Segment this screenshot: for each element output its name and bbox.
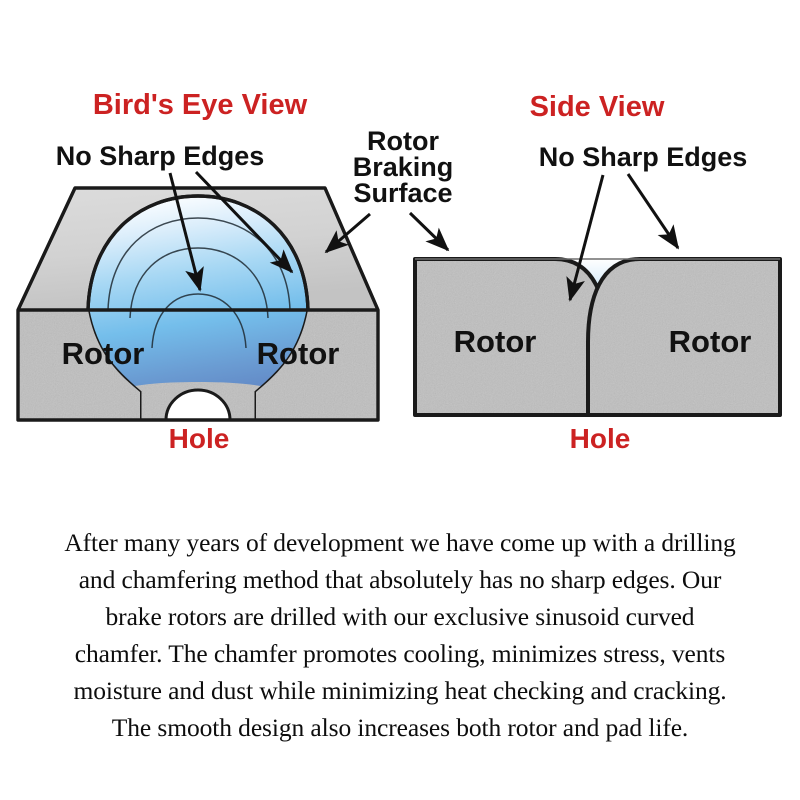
arrow-no-sharp-edges-right-b (628, 174, 678, 248)
caption-line-5: moisture and dust while minimizing heat … (12, 672, 788, 709)
rotor-braking-surface-line3: Surface (353, 178, 452, 208)
side-view-rotor-left-label: Rotor (454, 324, 537, 359)
birds-eye-rotor-left-label: Rotor (62, 336, 145, 371)
birds-eye-hole-label: Hole (169, 423, 230, 454)
side-view-hole-label: Hole (570, 423, 631, 454)
description-paragraph: After many years of development we have … (0, 524, 800, 746)
illustration-page: Bird's Eye View No Sharp Edges Rotor Bra… (0, 0, 800, 800)
side-view-no-sharp-edges-label: No Sharp Edges (539, 142, 748, 172)
caption-line-6: The smooth design also increases both ro… (12, 709, 788, 746)
rotor-chamfer-figure: Bird's Eye View No Sharp Edges Rotor Bra… (0, 0, 800, 520)
caption-line-2: and chamfering method that absolutely ha… (12, 561, 788, 598)
caption-line-1: After many years of development we have … (12, 524, 788, 561)
birds-eye-rotor-right-label: Rotor (257, 336, 340, 371)
birds-eye-no-sharp-edges-label: No Sharp Edges (56, 141, 265, 171)
birds-eye-title: Bird's Eye View (93, 89, 308, 121)
side-view-title: Side View (530, 91, 665, 123)
birds-eye-diagram (18, 188, 378, 420)
side-view-rotor-right-label: Rotor (669, 324, 752, 359)
caption-line-4: chamfer. The chamfer promotes cooling, m… (12, 635, 788, 672)
arrow-braking-surface-right (410, 213, 448, 250)
caption-line-3: brake rotors are drilled with our exclus… (12, 598, 788, 635)
